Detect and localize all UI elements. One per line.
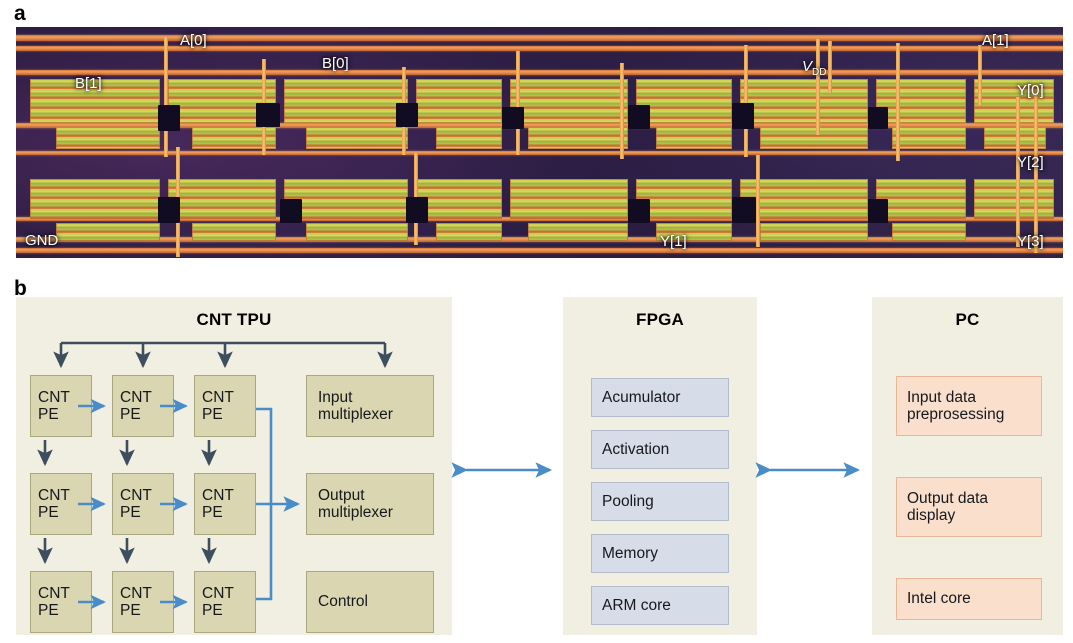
vdd-symbol: V [802, 58, 812, 75]
cnt-pe-r1c3[interactable]: CNT PE [194, 375, 256, 437]
control-block[interactable]: Control [306, 571, 434, 633]
cnt-pe-r2c1[interactable]: CNT PE [30, 473, 92, 535]
device-stack [284, 79, 408, 123]
device-stack [416, 179, 502, 219]
contact-pad [732, 103, 754, 129]
cnt-chip-micrograph: A[0] A[1] B[0] B[1] VDD GND Y[0] Y[1] Y[… [16, 27, 1063, 258]
fpga-block-activation[interactable]: Activation [591, 430, 729, 469]
cnt-pe-r2c3[interactable]: CNT PE [194, 473, 256, 535]
contact-pad [158, 197, 180, 223]
device-stack [876, 79, 966, 123]
device-stack [510, 79, 628, 123]
pc-block-input-data-preprocessing[interactable]: Input data preprosessing [896, 376, 1042, 436]
panel-a-letter: a [14, 3, 25, 24]
fpga-block-memory[interactable]: Memory [591, 534, 729, 573]
rail-a0-top [16, 35, 1063, 41]
device-stack [510, 179, 628, 219]
device-stack [436, 127, 502, 149]
device-stack [436, 223, 502, 241]
device-stack [284, 179, 408, 219]
contact-pad [868, 107, 888, 129]
interconnect-wire [828, 41, 832, 93]
chip-label-b1: B[1] [75, 76, 102, 91]
device-stack [192, 223, 276, 241]
cnt-pe-r1c2[interactable]: CNT PE [112, 375, 174, 437]
device-stack [974, 179, 1054, 219]
rail-b1-top [16, 70, 1063, 75]
device-stack [740, 79, 868, 123]
chip-label-y3: Y[3] [1017, 234, 1044, 249]
device-stack [168, 179, 276, 219]
contact-pad [406, 197, 428, 223]
chip-label-a0: A[0] [180, 33, 207, 48]
cnt-pe-r3c3[interactable]: CNT PE [194, 571, 256, 633]
device-stack [528, 127, 628, 149]
interconnect-wire [620, 63, 624, 159]
device-stack [56, 223, 160, 241]
contact-pad [628, 105, 650, 129]
device-stack [306, 127, 408, 149]
fpga-panel: FPGA Acumulator Activation Pooling Memor… [563, 297, 757, 635]
contact-pad [868, 199, 888, 223]
device-stack [30, 179, 160, 219]
panel-b-letter: b [14, 278, 26, 299]
cnt-pe-r3c1[interactable]: CNT PE [30, 571, 92, 633]
chip-label-y2: Y[2] [1017, 155, 1044, 170]
device-stack [636, 79, 732, 123]
contact-pad [502, 107, 524, 129]
rail-a1 [16, 46, 1063, 51]
interconnect-wire [744, 45, 748, 157]
interconnect-wire [816, 39, 820, 135]
interconnect-wire [978, 45, 982, 105]
device-stack [760, 127, 868, 149]
device-stack [892, 127, 966, 149]
rail-mid-2 [16, 151, 1063, 155]
input-multiplexer-block[interactable]: Input multiplexer [306, 375, 434, 437]
contact-pad [628, 199, 650, 223]
chip-label-b0: B[0] [322, 56, 349, 71]
pc-block-intel-core[interactable]: Intel core [896, 578, 1042, 620]
pc-block-output-data-display[interactable]: Output data display [896, 477, 1042, 537]
interconnect-wire [756, 155, 760, 247]
pc-title: PC [872, 310, 1063, 330]
device-stack [416, 79, 502, 123]
device-stack [56, 127, 160, 149]
contact-pad [158, 105, 180, 131]
cnt-pe-r3c2[interactable]: CNT PE [112, 571, 174, 633]
fpga-title: FPGA [563, 310, 757, 330]
cnt-pe-r1c1[interactable]: CNT PE [30, 375, 92, 437]
chip-label-y1: Y[1] [660, 234, 687, 249]
cnt-tpu-panel: CNT TPU CNT PE CNT PE CNT PE CNT PE CNT … [16, 297, 452, 635]
chip-label-gnd: GND [25, 233, 58, 248]
fpga-block-acumulator[interactable]: Acumulator [591, 378, 729, 417]
cnt-pe-r2c2[interactable]: CNT PE [112, 473, 174, 535]
device-stack [306, 223, 408, 241]
chip-label-vdd: VDD [802, 59, 826, 78]
interconnect-wire [896, 43, 900, 161]
interconnect-wire [516, 51, 520, 155]
rail-y3 [16, 248, 1063, 253]
device-stack [876, 179, 966, 219]
contact-pad [256, 103, 280, 127]
device-stack [528, 223, 628, 241]
device-stack [656, 127, 732, 149]
device-stack [760, 223, 868, 241]
device-stack [892, 223, 966, 241]
cnt-tpu-title: CNT TPU [16, 310, 452, 330]
fpga-block-pooling[interactable]: Pooling [591, 482, 729, 521]
chip-label-y0: Y[0] [1017, 83, 1044, 98]
contact-pad [732, 197, 756, 223]
chip-label-a1: A[1] [982, 33, 1009, 48]
contact-pad [396, 103, 418, 127]
pc-panel: PC Input data preprosessing Output data … [872, 297, 1063, 635]
fpga-block-arm-core[interactable]: ARM core [591, 586, 729, 625]
interconnect-wire [1016, 97, 1020, 247]
vdd-subscript: DD [812, 67, 826, 78]
interconnect-wire [164, 37, 168, 157]
interconnect-wire [1034, 89, 1038, 253]
contact-pad [280, 199, 302, 223]
output-multiplexer-block[interactable]: Output multiplexer [306, 473, 434, 535]
device-stack [636, 179, 732, 219]
